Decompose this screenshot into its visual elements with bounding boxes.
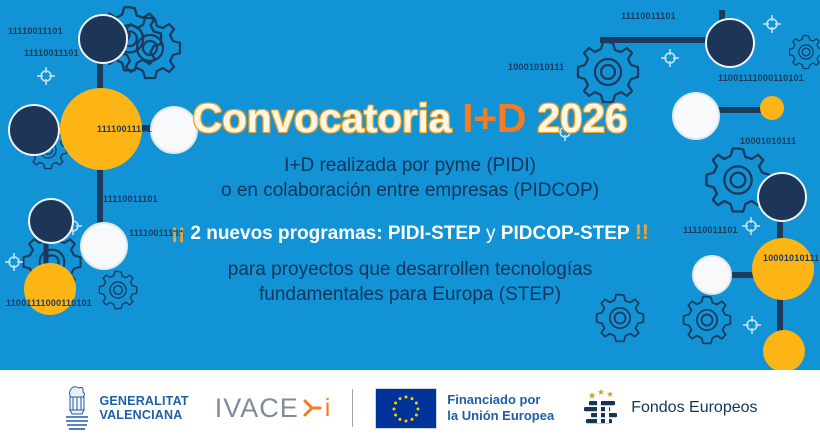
binary-text: 10001010111 [508, 62, 564, 72]
binary-text: 11110011101 [97, 124, 152, 134]
binary-text: 11110011101 [103, 194, 158, 204]
generalitat-crest-icon [62, 385, 92, 431]
ivace-wordmark: IVACE [215, 393, 299, 424]
node-orange-right-mid [760, 96, 784, 120]
binary-text: 10001010111 [763, 253, 819, 263]
generalitat-line-1: GENERALITAT [99, 394, 188, 408]
node-white-right-mid [672, 92, 720, 140]
binary-text: 11001111000110101 [718, 73, 804, 83]
node-navy-right-lower [757, 172, 807, 222]
binary-text: 11110011101 [129, 228, 184, 238]
node-white-left-lower [80, 222, 128, 270]
eu-stars-icon [376, 389, 436, 428]
logo-generalitat-valenciana[interactable]: GENERALITAT VALENCIANA [62, 385, 188, 431]
binary-text: 11110011101 [683, 225, 738, 235]
logo-fondos-europeos[interactable]: Fondos Europeos [578, 386, 757, 430]
footer-divider-1 [352, 389, 353, 427]
node-white-left-right [150, 106, 198, 154]
fondos-europeos-icon [578, 386, 622, 430]
node-navy-left-lower [28, 198, 74, 244]
eu-line-2: la Unión Europea [447, 408, 554, 424]
eu-line-1: Financiado por [447, 392, 554, 408]
node-navy-left-mid [8, 104, 60, 156]
fondos-europeos-label: Fondos Europeos [631, 399, 757, 417]
generalitat-line-2: VALENCIANA [99, 408, 188, 422]
node-orange-right-bot [763, 330, 805, 370]
node-navy-right-top [705, 18, 755, 68]
binary-text: 11110011101 [8, 26, 63, 36]
binary-text: 11001111000110101 [6, 298, 92, 308]
node-orange-right-main [752, 238, 814, 300]
decorative-network-graphics: 11110011101 11110011101 11110011101 1111… [0, 0, 820, 370]
node-navy-left-top [78, 14, 128, 64]
campaign-banner: 11110011101 11110011101 11110011101 1111… [0, 0, 820, 446]
binary-text: 11110011101 [621, 11, 676, 21]
banner-blue-background: 11110011101 11110011101 11110011101 1111… [0, 0, 820, 370]
node-white-right-bot [692, 255, 732, 295]
eu-flag-icon [375, 388, 437, 429]
binary-text: 10001010111 [740, 136, 796, 146]
ivace-i-letter: i [325, 394, 331, 423]
logo-financiado-union-europea[interactable]: Financiado por la Unión Europea [375, 388, 554, 429]
decor-svg [0, 0, 820, 370]
logo-ivace[interactable]: IVACE i [215, 393, 331, 424]
footer-logo-bar: GENERALITAT VALENCIANA IVACE i [0, 370, 820, 446]
binary-text: 11110011101 [24, 48, 79, 58]
ivace-plus-icon [302, 397, 322, 419]
